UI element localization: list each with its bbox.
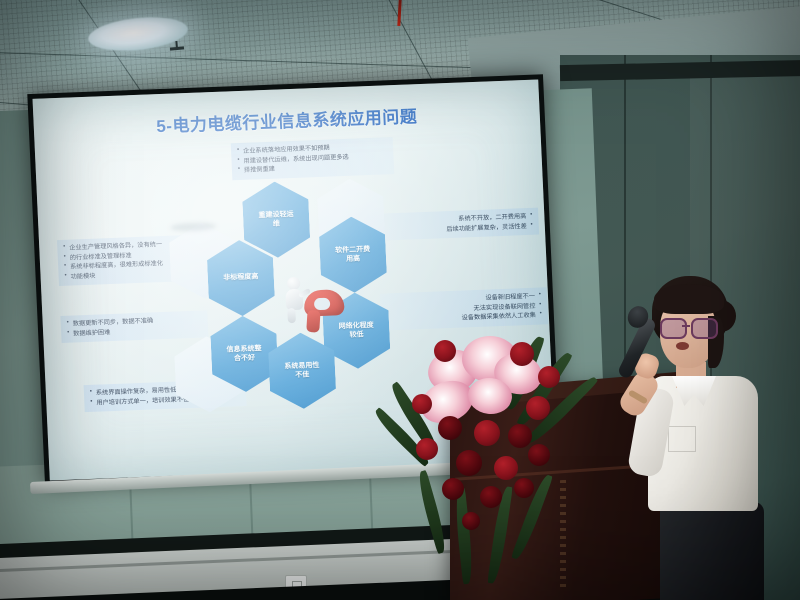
conference-room-scene: 5-电力电缆行业信息系统应用问题 企业系统落地应用效果不如预期 用建设替代运维，…	[0, 0, 800, 600]
speaker-person	[620, 276, 770, 600]
speaker-hair-front	[654, 284, 724, 314]
callout-top: 企业系统落地应用效果不如预期 用建设替代运维，系统出现问题更多选 择推倒重建	[231, 137, 395, 180]
speaker-trousers	[660, 502, 764, 600]
hex-upper-right-label: 软件二开费用高	[333, 245, 374, 265]
flower-arrangement	[398, 320, 628, 600]
speaker-mouth	[676, 342, 689, 350]
hex-bottom-label: 系统易用性不佳	[282, 361, 323, 381]
eyeglasses-icon	[660, 318, 714, 335]
hex-lower-left-label: 信息系统整合不好	[224, 344, 265, 364]
hexagon-diagram: 重建设轻运维 软件二开费用高 非标程度高 信息系统整合不好 网络化程度较低 系统…	[167, 176, 428, 430]
white-3d-person-icon	[281, 277, 309, 324]
slide-title: 5-电力电缆行业信息系统应用问题	[33, 97, 540, 141]
hex-upper-left-label: 非标程度高	[221, 273, 261, 284]
hex-top-label: 重建设轻运维	[256, 209, 297, 229]
shirt-pocket	[668, 426, 696, 452]
